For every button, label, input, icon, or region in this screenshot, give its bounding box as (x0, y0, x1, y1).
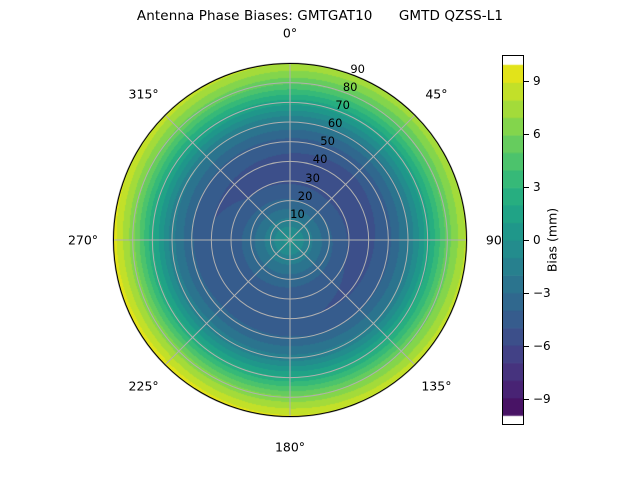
colorbar-tick-mark (524, 81, 529, 82)
colorbar-tick-mark (524, 346, 529, 347)
radial-tick-label-70: 70 (335, 98, 350, 112)
colorbar-tick-mark (524, 134, 529, 135)
angular-tick-label-180: 180° (275, 440, 305, 455)
angular-tick-label-225: 225° (129, 379, 159, 394)
colorbar-tick-label-3: 3 (533, 180, 541, 194)
angular-tick-label-0: 0° (283, 26, 297, 41)
colorbar-tick-mark (524, 187, 529, 188)
colorbar[interactable]: 9630−3−6−9 (502, 55, 524, 425)
radial-tick-label-20: 20 (298, 189, 313, 203)
figure-canvas: Antenna Phase Biases: GMTGAT10 GMTD QZSS… (0, 0, 640, 480)
radial-tick-label-50: 50 (320, 134, 335, 148)
colorbar-tick-label-6: 6 (533, 127, 541, 141)
angular-tick-label-45: 45° (425, 86, 447, 101)
polar-contour-field (113, 63, 467, 417)
colorbar-axis-label: Bias (mm) (545, 208, 560, 272)
colorbar-tick-label-0: 0 (533, 233, 541, 247)
radial-tick-label-10: 10 (290, 207, 305, 221)
angular-tick-label-135: 135° (421, 379, 451, 394)
colorbar-tick-label--9: −9 (533, 392, 551, 406)
colorbar-gradient (502, 55, 524, 425)
radial-tick-label-90: 90 (350, 62, 365, 76)
angular-tick-label-315: 315° (129, 86, 159, 101)
colorbar-tick-label--6: −6 (533, 339, 551, 353)
radial-tick-label-40: 40 (313, 152, 328, 166)
colorbar-tick-label--3: −3 (533, 286, 551, 300)
colorbar-tick-mark (524, 399, 529, 400)
polar-field-clip (113, 63, 467, 417)
radial-tick-label-60: 60 (328, 116, 343, 130)
radial-tick-label-30: 30 (305, 171, 320, 185)
polar-plot[interactable]: 102030405060708090 (113, 63, 467, 417)
colorbar-tick-mark (524, 293, 529, 294)
figure-title: Antenna Phase Biases: GMTGAT10 GMTD QZSS… (0, 8, 640, 24)
radial-tick-label-80: 80 (343, 80, 358, 94)
colorbar-tick-label-9: 9 (533, 74, 541, 88)
angular-tick-label-270: 270° (68, 233, 98, 248)
colorbar-tick-mark (524, 240, 529, 241)
